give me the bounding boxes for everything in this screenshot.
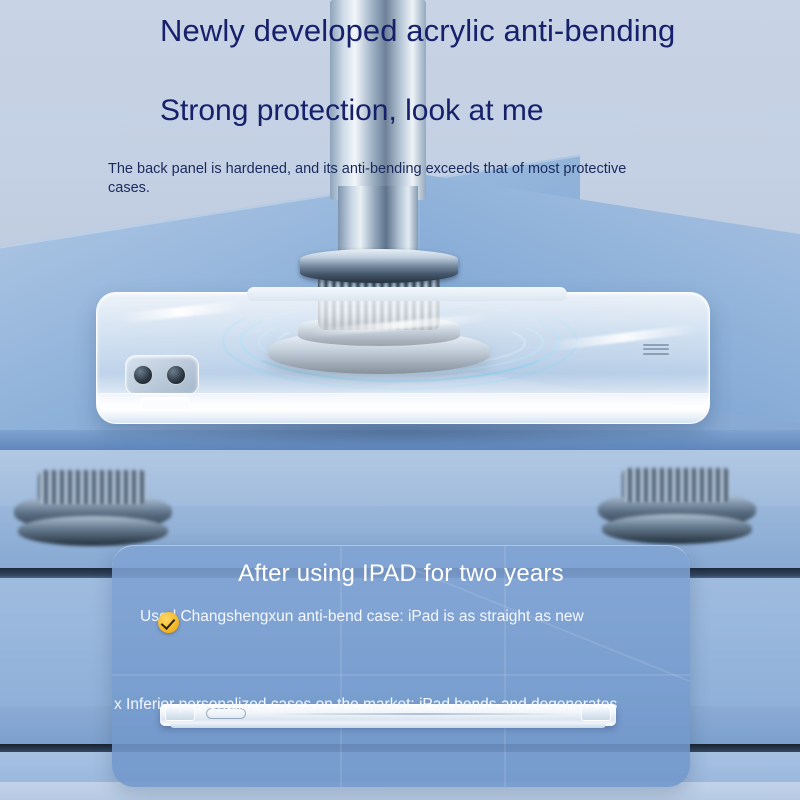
row-label-positive: Used Changshengxun anti-bend case: iPad … — [140, 608, 584, 626]
row-label-negative: x Inferior personalized cases on the mar… — [114, 696, 617, 714]
check-badge-icon — [158, 612, 179, 633]
comparison-panel: After using IPAD for two years Used Chan… — [112, 545, 690, 787]
press-disc-lower — [602, 514, 752, 544]
camera-lens-icon — [166, 365, 186, 385]
case-highlight — [549, 324, 699, 351]
camera-cutout — [125, 355, 199, 395]
headline-secondary: Strong protection, look at me — [160, 94, 720, 127]
case-highlight — [121, 301, 241, 323]
transparent-ipad-case — [96, 292, 710, 424]
product-marketing-image: Newly developed acrylic anti-bending Str… — [0, 0, 800, 800]
subcopy-text: The back panel is hardened, and its anti… — [108, 160, 668, 198]
press-collar — [38, 470, 146, 504]
panel-crease — [112, 674, 690, 676]
speaker-grille-icon — [643, 341, 669, 357]
case-highlight — [311, 313, 491, 337]
case-base-edge — [170, 723, 606, 728]
case-front-lip — [97, 393, 709, 423]
headline-primary: Newly developed acrylic anti-bending — [160, 14, 700, 47]
camera-lens-icon — [133, 365, 153, 385]
press-collar — [622, 468, 730, 502]
press-disc-lower — [18, 516, 168, 546]
press-flange-top — [300, 249, 458, 283]
panel-title: After using IPAD for two years — [112, 560, 690, 588]
case-top-strip — [247, 287, 567, 301]
